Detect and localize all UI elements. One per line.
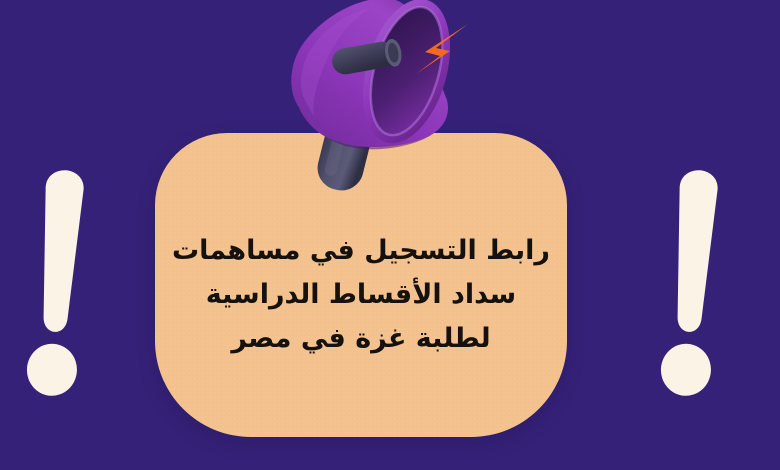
headline-line-3: لطلبة غزة في مصر — [171, 317, 551, 361]
headline-line-1: رابط التسجيل في مساهمات — [171, 229, 551, 273]
exclamation-mark-icon-left — [18, 166, 98, 400]
lightning-bolt-icon — [410, 18, 472, 80]
exclamation-mark-icon-right — [652, 166, 732, 400]
exclamation-right-glyph — [652, 166, 732, 400]
lightning-bolt-glyph — [410, 18, 472, 80]
exclamation-left-glyph — [18, 166, 98, 400]
headline-line-2: سداد الأقساط الدراسية — [171, 273, 551, 317]
headline-text-block: رابط التسجيل في مساهمات سداد الأقساط الد… — [155, 229, 567, 361]
announcement-poster: رابط التسجيل في مساهمات سداد الأقساط الد… — [0, 0, 780, 470]
